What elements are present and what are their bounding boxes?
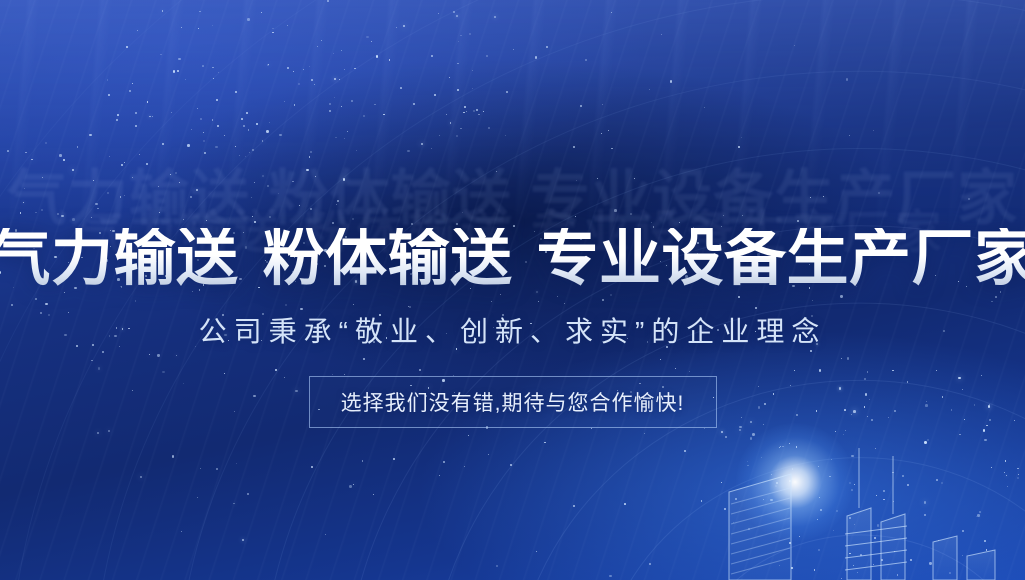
cta-button-label: 选择我们没有错,期待与您合作愉快! xyxy=(341,387,685,417)
page-subtitle: 公司秉承“敬业、创新、求实”的企业理念 xyxy=(199,318,827,346)
banner-content: 气力输送粉体输送专业设备生产厂家 公司秉承“敬业、创新、求实”的企业理念 选择我… xyxy=(0,0,1025,580)
cta-button[interactable]: 选择我们没有错,期待与您合作愉快! xyxy=(309,376,717,428)
headline-part-1: 气力输送 xyxy=(0,224,239,293)
hero-banner: 气力输送 粉体输送 专业设备生产厂家 气力输送 粉体输送 专业设备生产厂家 xyxy=(0,0,1025,580)
page-title: 气力输送粉体输送专业设备生产厂家 xyxy=(0,228,1025,290)
headline-part-3: 专业设备生产厂家 xyxy=(537,224,1025,293)
headline-part-2: 粉体输送 xyxy=(263,224,513,293)
